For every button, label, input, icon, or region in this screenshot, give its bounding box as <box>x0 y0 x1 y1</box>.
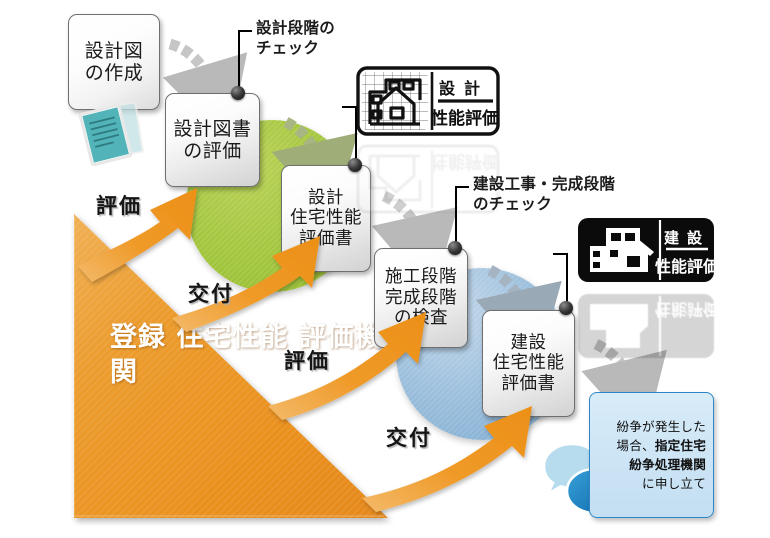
leader-design-logo-horizontal <box>342 106 356 108</box>
construction-logo-bottom-text: 性能評価 <box>655 257 716 276</box>
gray-arrow-5 <box>596 344 630 384</box>
knob-design-perf-report <box>348 158 362 172</box>
box-design-perf-report-label: 設計 住宅性能 評価書 <box>290 188 362 250</box>
leader-construction-logo-horizontal <box>553 253 567 255</box>
leader-design-logo-vertical <box>355 106 357 162</box>
knob-design-doc-eval <box>231 86 245 100</box>
dispute-line-3: 紛争処理機関 <box>616 455 706 474</box>
callout-construction-stage-check-text: 建設工事・完成段階 のチェック <box>473 174 615 214</box>
diagram-canvas: 登録 住宅性能 評価機関 <box>0 0 770 538</box>
design-performance-logo: 設計 性能評価 性能評価 <box>356 66 500 140</box>
leader-construction-logo-vertical <box>566 253 568 305</box>
construction-logo-reflection: 性能評価 <box>576 288 716 360</box>
dispute-line-2-bold: 指定住宅 <box>655 438 706 453</box>
box-design-perf-report[interactable]: 設計 住宅性能 評価書 <box>281 165 371 272</box>
svg-text:性能評価: 性能評価 <box>431 151 499 172</box>
dispute-line-1: 紛争が発生した <box>616 417 706 436</box>
design-logo-bottom-text: 性能評価 <box>431 108 499 129</box>
flow-label-eval-2: 評価 <box>284 345 330 375</box>
flow-label-issue-1: 交付 <box>188 278 234 308</box>
box-design-doc-eval[interactable]: 設計図書 の評価 <box>165 93 260 187</box>
leader-design-check-horizontal <box>238 30 252 32</box>
flow-label-eval-1: 評価 <box>96 190 142 220</box>
dispute-line-4: に申し立て <box>616 474 706 493</box>
gray-arrow-1 <box>170 44 212 88</box>
box-design-doc-eval-label: 設計図書 の評価 <box>173 118 251 163</box>
dispute-line-2: 場合、指定住宅 <box>616 436 706 455</box>
svg-text:性能評価: 性能評価 <box>655 300 716 319</box>
leader-construction-check-horizontal <box>455 186 469 188</box>
dispute-resolution-box[interactable]: 紛争が発生した 場合、指定住宅 紛争処理機関 に申し立て <box>589 392 714 518</box>
knob-construction-perf-report <box>559 301 573 315</box>
box-construction-perf-report-label: 建設 住宅性能 評価書 <box>493 333 565 395</box>
flow-label-issue-2: 交付 <box>386 422 432 452</box>
dispute-line-3-bold: 紛争処理機関 <box>629 457 706 472</box>
callout-design-stage-check-text: 設計段階の チェック <box>256 18 335 58</box>
box-construction-perf-report[interactable]: 建設 住宅性能 評価書 <box>482 310 575 417</box>
construction-performance-logo: 建設 性能評価 性能評価 <box>576 216 716 288</box>
design-logo-top-text: 設計 <box>439 79 489 98</box>
box-construction-inspection-label: 施工段階 完成段階 の検査 <box>385 267 457 329</box>
dispute-text: 紛争が発生した 場合、指定住宅 紛争処理機関 に申し立て <box>616 417 706 494</box>
knob-construction-inspection <box>448 241 462 255</box>
dispute-line-2-normal: 場合、 <box>616 438 654 453</box>
box-design-drawing-label: 設計図 の作成 <box>85 40 144 85</box>
box-design-drawing[interactable]: 設計図 の作成 <box>68 14 160 110</box>
box-construction-inspection[interactable]: 施工段階 完成段階 の検査 <box>374 248 468 348</box>
document-icon <box>74 98 156 170</box>
construction-logo-top-text: 建設 <box>664 229 710 247</box>
